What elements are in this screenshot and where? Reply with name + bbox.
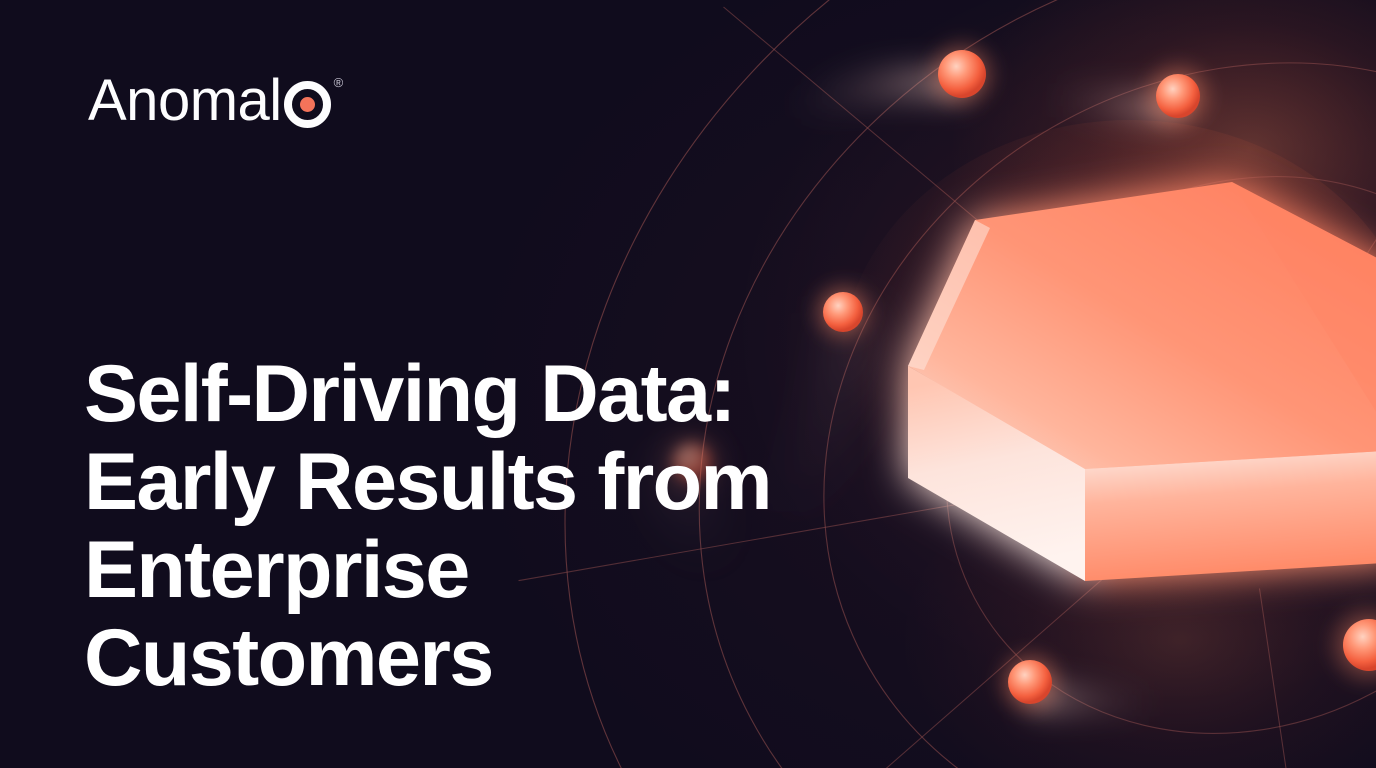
prism-aura [840, 120, 1376, 620]
logo-wordmark-text: Anomal [88, 72, 282, 130]
title-line-3: Enterprise [84, 526, 804, 614]
anomalo-logo[interactable]: Anomal ® [88, 72, 343, 130]
prism-face-front-left [908, 366, 1085, 581]
orbit-ring-1 [848, 73, 1376, 768]
prism-face-front-right [1085, 450, 1376, 581]
anomalo-o-target-icon [284, 81, 331, 128]
logo-wordmark: Anomal [88, 72, 331, 130]
prism-face-top-shade [1232, 182, 1376, 450]
slide-title: Self-Driving Data: Early Results from En… [84, 350, 804, 702]
hexagonal-prism-3d [840, 120, 1376, 640]
title-line-1: Self-Driving Data: [84, 350, 804, 438]
title-line-2: Early Results from [84, 438, 804, 526]
title-line-4: Customers [84, 614, 804, 702]
orb-top-left [790, 34, 1002, 122]
orb-top-right [1050, 56, 1218, 136]
ambient-glow-top-right [950, 0, 1376, 380]
ambient-glow-bottom-right [900, 450, 1376, 768]
prism-edge-highlight [908, 220, 990, 370]
registered-trademark-symbol: ® [334, 76, 344, 89]
orb-right-edge [1323, 599, 1376, 691]
slide-canvas: Anomal ® Self-Driving Data: Early Result… [0, 0, 1376, 768]
orb-bottom [992, 644, 1156, 720]
prism-face-top [908, 182, 1376, 469]
